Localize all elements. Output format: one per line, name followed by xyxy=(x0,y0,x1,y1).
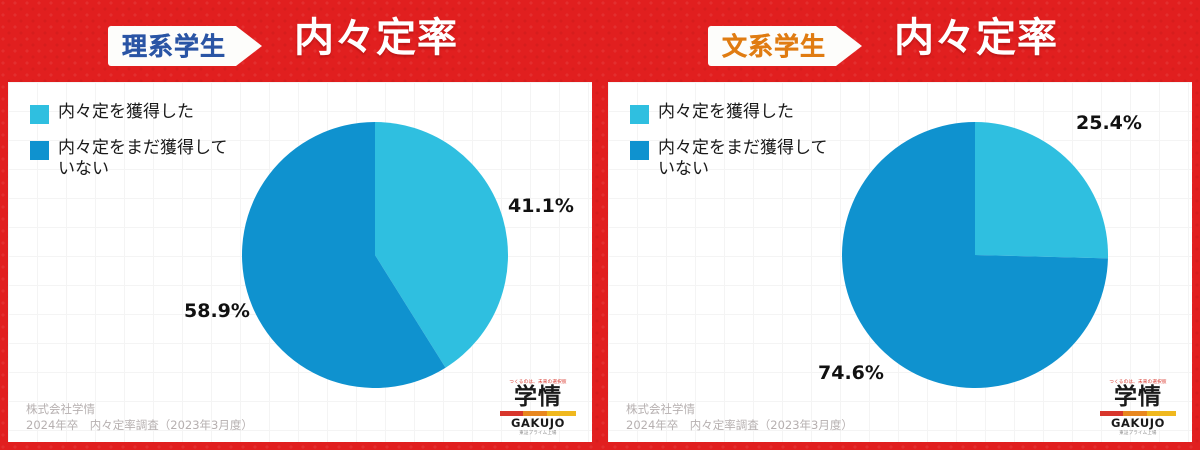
legend-item: 内々定をまだ獲得して いない xyxy=(30,138,270,181)
source-note-science: 株式会社学情 2024年卒 内々定率調査（2023年3月度） xyxy=(26,401,253,434)
badge-body: 理系学生 xyxy=(108,26,236,66)
infographic-root: 理系学生 内々定率 内々定を獲得した 内々定をまだ獲得して いない xyxy=(0,0,1200,450)
legend-item-label: 内々定をまだ獲得して いない xyxy=(658,138,828,181)
pie-svg xyxy=(240,120,510,390)
legend-item: 内々定をまだ獲得して いない xyxy=(630,138,870,181)
legend-item-label: 内々定をまだ獲得して いない xyxy=(58,138,228,181)
logo-mark-kanji: 学情 xyxy=(1098,386,1178,409)
source-note-humanities: 株式会社学情 2024年卒 内々定率調査（2023年3月度） xyxy=(626,401,853,434)
value-label-not-obtained: 74.6% xyxy=(818,362,884,384)
pie-chart-science xyxy=(240,120,510,390)
badge-arrow-icon xyxy=(236,26,262,66)
legend-item-label: 内々定を獲得した xyxy=(658,102,794,123)
legend-item: 内々定を獲得した xyxy=(30,102,270,124)
panel-humanities-students: 文系学生 内々定率 内々定を獲得した 内々定をまだ獲得して いない xyxy=(600,0,1200,450)
legend-humanities: 内々定を獲得した 内々定をまだ獲得して いない xyxy=(630,102,870,195)
value-label-obtained: 41.1% xyxy=(508,195,574,217)
pie-slice-obtained xyxy=(975,122,1108,258)
chart-card-science: 内々定を獲得した 内々定をまだ獲得して いない 41.1% 58.9% 株式会社… xyxy=(8,82,592,442)
pie-svg xyxy=(840,120,1110,390)
gakujo-logo: つくるのは、未来の選択肢 学情 GAKUJO 東証プライム上場 xyxy=(498,381,578,437)
panel-header-science: 理系学生 内々定率 xyxy=(0,0,600,82)
chart-card-humanities: 内々定を獲得した 内々定をまだ獲得して いない 25.4% 74.6% 株式会社… xyxy=(608,82,1192,442)
panel-title-science: 内々定率 xyxy=(294,18,458,58)
logo-mark-kanji: 学情 xyxy=(498,386,578,409)
logo-romaji: GAKUJO xyxy=(1098,418,1178,430)
legend-swatch-not-obtained-icon xyxy=(630,141,649,160)
legend-swatch-not-obtained-icon xyxy=(30,141,49,160)
panel-header-humanities: 文系学生 内々定率 xyxy=(600,0,1200,82)
panel-science-students: 理系学生 内々定率 内々定を獲得した 内々定をまだ獲得して いない xyxy=(0,0,600,450)
badge-science-students: 理系学生 xyxy=(108,26,262,66)
logo-subtitle: 東証プライム上場 xyxy=(498,432,578,436)
value-label-not-obtained: 58.9% xyxy=(184,300,250,322)
badge-arrow-icon xyxy=(836,26,862,66)
badge-body: 文系学生 xyxy=(708,26,836,66)
gakujo-logo: つくるのは、未来の選択肢 学情 GAKUJO 東証プライム上場 xyxy=(1098,381,1178,437)
badge-label: 文系学生 xyxy=(722,34,826,59)
legend-swatch-obtained-icon xyxy=(30,105,49,124)
badge-humanities-students: 文系学生 xyxy=(708,26,862,66)
value-label-obtained: 25.4% xyxy=(1076,112,1142,134)
legend-item: 内々定を獲得した xyxy=(630,102,870,124)
logo-romaji: GAKUJO xyxy=(498,418,578,430)
logo-subtitle: 東証プライム上場 xyxy=(1098,432,1178,436)
pie-chart-humanities xyxy=(840,120,1110,390)
legend-item-label: 内々定を獲得した xyxy=(58,102,194,123)
badge-label: 理系学生 xyxy=(122,34,226,59)
panel-title-humanities: 内々定率 xyxy=(894,18,1058,58)
legend-swatch-obtained-icon xyxy=(630,105,649,124)
legend-science: 内々定を獲得した 内々定をまだ獲得して いない xyxy=(30,102,270,195)
